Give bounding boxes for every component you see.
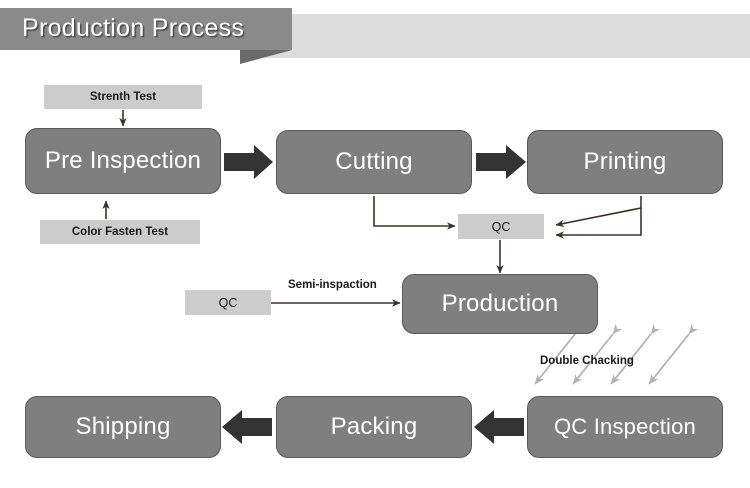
banner-fold-shadow xyxy=(240,50,292,64)
arrow-qc-inspection-to-packing xyxy=(474,410,524,444)
label-box-color-fasten-test-text: Color Fasten Test xyxy=(72,226,168,238)
process-box-production[interactable]: Production xyxy=(402,274,598,334)
arrow-pre-inspection-to-cutting xyxy=(224,145,273,179)
label-box-qc-mid-text: QC xyxy=(219,296,238,310)
process-box-cutting[interactable]: Cutting xyxy=(276,130,472,194)
diagram-canvas: Production Process xyxy=(0,0,750,488)
page-title: Production Process xyxy=(22,14,244,43)
arrow-printing-to-qc-orthogonal xyxy=(556,196,641,235)
label-box-strength-test-text: Strenth Test xyxy=(90,91,156,103)
process-box-shipping[interactable]: Shipping xyxy=(25,396,221,458)
label-box-strength-test: Strenth Test xyxy=(44,85,202,109)
process-box-cutting-label: Cutting xyxy=(335,148,412,176)
process-box-qc-inspection[interactable]: QC Inspection xyxy=(527,396,723,458)
process-box-pre-inspection[interactable]: Pre Inspection xyxy=(25,128,221,194)
edge-label-semi-inspaction: Semi-inspaction xyxy=(288,279,377,291)
label-box-color-fasten-test: Color Fasten Test xyxy=(40,220,200,244)
process-box-packing[interactable]: Packing xyxy=(276,396,472,458)
arrow-printing-to-qc-diagonal xyxy=(556,208,641,225)
arrow-packing-to-shipping xyxy=(222,410,272,444)
process-box-production-label: Production xyxy=(442,290,559,318)
arrow-cutting-to-qc xyxy=(374,196,455,226)
process-box-pre-inspection-label: Pre Inspection xyxy=(45,147,201,175)
arrow-cutting-to-printing xyxy=(476,145,526,179)
label-box-qc-top: QC xyxy=(458,214,544,239)
edge-label-double-chacking: Double Chacking xyxy=(540,355,634,367)
process-box-qc-inspection-label: QC Inspection xyxy=(554,414,696,440)
process-box-packing-label: Packing xyxy=(331,413,418,441)
label-box-qc-mid: QC xyxy=(185,290,271,315)
process-box-shipping-label: Shipping xyxy=(75,413,170,441)
process-box-printing[interactable]: Printing xyxy=(527,130,723,194)
banner-bar xyxy=(240,14,750,58)
label-box-qc-top-text: QC xyxy=(492,220,511,234)
process-box-printing-label: Printing xyxy=(584,148,667,176)
